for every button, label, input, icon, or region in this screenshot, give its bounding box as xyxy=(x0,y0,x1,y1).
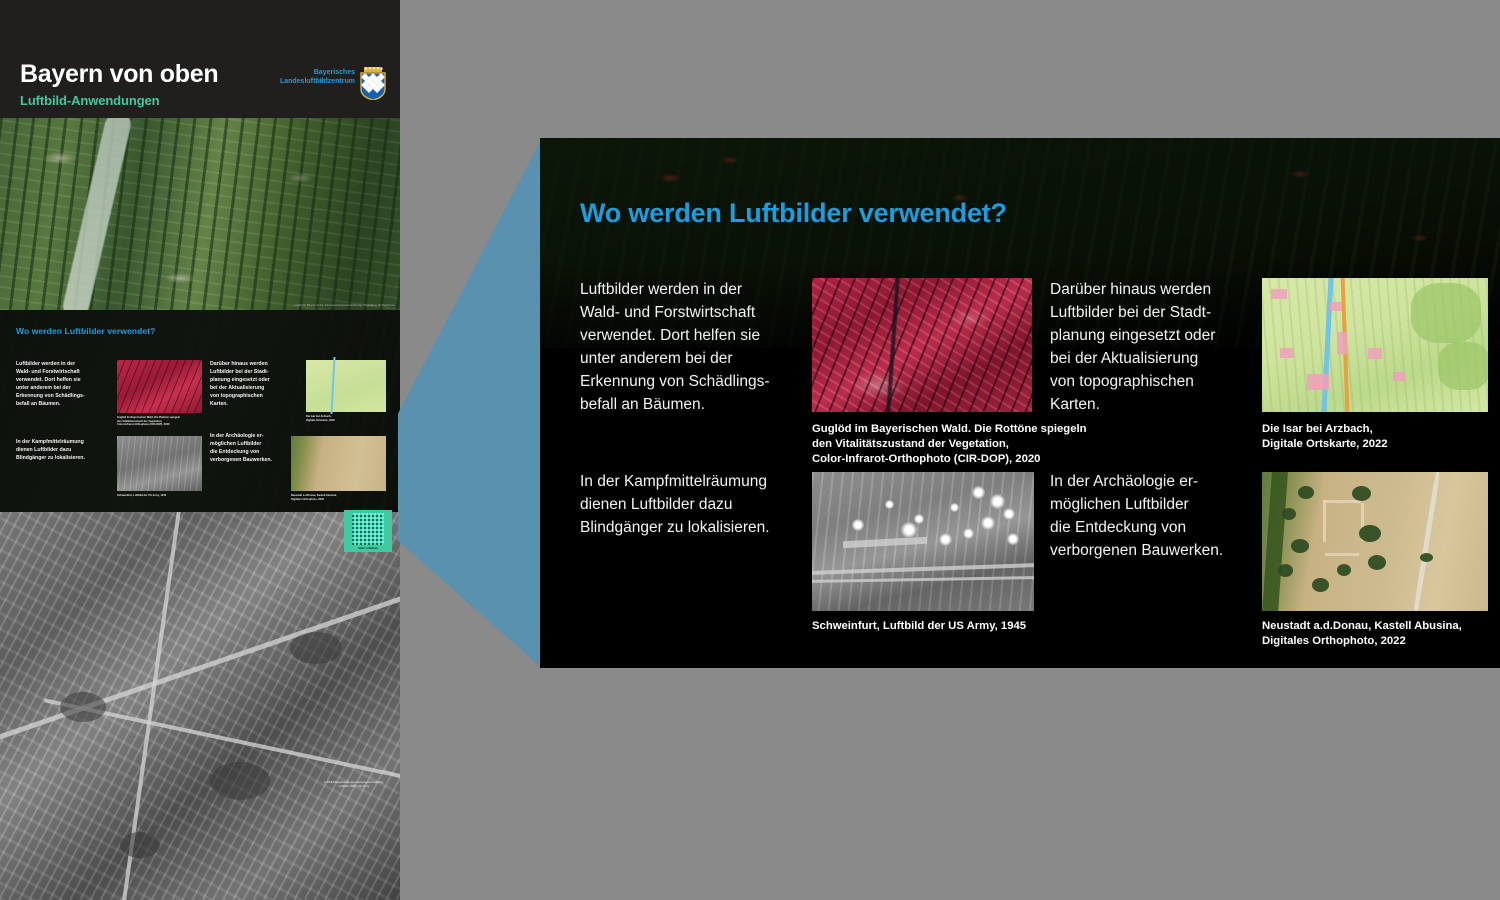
block-text-archaeology: In der Archäologie er- möglichen Luftbil… xyxy=(1050,470,1275,562)
poster-subtitle: Luftbild-Anwendungen xyxy=(20,93,160,108)
tree-canopy xyxy=(1352,486,1371,501)
vegetation-blob xyxy=(60,692,106,722)
tree-canopy xyxy=(1298,486,1314,499)
poster-content-panel: Wo werden Luftbilder verwendet? Luftbild… xyxy=(0,310,400,512)
qr-code-icon[interactable] xyxy=(352,513,384,545)
bomb-crater xyxy=(914,514,924,524)
settlement-area xyxy=(1307,374,1329,390)
logo-text: Bayerisches Landesluftbildzentrum xyxy=(277,68,355,86)
block-text-urban: Darüber hinaus werden Luftbilder bei der… xyxy=(1050,278,1265,416)
panel-heading: Wo werden Luftbilder verwendet? xyxy=(580,198,1007,229)
building-roof xyxy=(843,537,928,548)
roman-fort-wall xyxy=(1325,553,1359,556)
poster-bottom-aerial-photo xyxy=(0,512,400,900)
poster-thumb-map xyxy=(306,360,386,412)
road-shape xyxy=(1412,472,1442,611)
bomb-crater xyxy=(901,522,917,538)
settlement-area xyxy=(1280,348,1294,358)
settlement-area xyxy=(1330,302,1342,311)
hedgerow xyxy=(1262,472,1288,611)
bomb-crater xyxy=(963,528,974,539)
caption-orthophoto-kastell-abusina: Neustadt a.d.Donau, Kastell Abusina, Dig… xyxy=(1262,619,1500,649)
poster-caption-cir: Guglöd im Bayerischen Wald. Die Rottöne … xyxy=(117,416,180,427)
river-shape xyxy=(60,118,133,310)
poster-caption-bw: Schweinfurt, Luftbild der US Army, 1945 xyxy=(117,494,166,498)
caption-topographic-map-isar-arzbach: Die Isar bei Arzbach, Digitale Ortskarte… xyxy=(1262,422,1497,452)
logo-text-line2: Landesluftbildzentrum xyxy=(277,77,355,86)
organization-logo: Bayerisches Landesluftbildzentrum xyxy=(277,67,387,101)
vegetation-blob xyxy=(120,832,160,858)
block-text-ordnance: In der Kampfmittelräumung dienen Luftbil… xyxy=(580,470,825,539)
bavarian-coat-of-arms-icon xyxy=(359,67,387,100)
road-line xyxy=(0,587,400,741)
settlement-area xyxy=(1337,332,1347,354)
poster-top-image-credit: Luftbild Bayerische Vermessungsverwaltun… xyxy=(295,303,395,307)
logo-text-line1: Bayerisches xyxy=(277,68,355,77)
tree-canopy xyxy=(1368,555,1386,570)
image-historic-aerial-schweinfurt-1945 xyxy=(812,472,1034,611)
enlarged-detail-panel: Wo werden Luftbilder verwendet? Luftbild… xyxy=(540,138,1500,668)
bomb-crater xyxy=(990,494,1005,509)
poster-bottom-image-credit: Luftbild Bayerische Vermessungsverwaltun… xyxy=(318,780,390,788)
bomb-crater xyxy=(939,533,952,546)
caption-historic-aerial-schweinfurt-1945: Schweinfurt, Luftbild der US Army, 1945 xyxy=(812,619,1142,634)
bomb-crater xyxy=(885,500,894,509)
tree-canopy xyxy=(1282,508,1296,520)
image-orthophoto-kastell-abusina xyxy=(1262,472,1488,611)
roman-fort-wall xyxy=(1323,500,1326,542)
poster-top-aerial-photo: Luftbild Bayerische Vermessungsverwaltun… xyxy=(0,118,400,310)
qr-code-label: mehr erfahren xyxy=(347,546,389,550)
caption-cir-orthophoto-guglod: Guglöd im Bayerischen Wald. Die Rottöne … xyxy=(812,422,1142,467)
settlement-area xyxy=(1271,289,1287,299)
vegetation-blob xyxy=(210,762,270,800)
forest-area xyxy=(1438,342,1488,390)
tree-canopy xyxy=(1291,539,1309,553)
tree-canopy xyxy=(1278,564,1293,577)
exhibition-poster: Bayern von oben Luftbild-Anwendungen Bay… xyxy=(0,0,400,900)
poster-block-text-archaeology: In der Archäologie er- möglichen Luftbil… xyxy=(210,432,303,464)
poster-title: Bayern von oben xyxy=(20,60,218,89)
poster-block-text-forest: Luftbilder werden in der Wald- und Forst… xyxy=(16,360,109,409)
river-shape xyxy=(886,278,900,412)
river-shape xyxy=(1321,278,1334,412)
forest-area xyxy=(1411,283,1481,343)
screenshot-canvas: Bayern von oben Luftbild-Anwendungen Bay… xyxy=(0,0,1500,900)
rail-line xyxy=(812,576,1034,583)
poster-block-text-urban: Darüber hinaus werden Luftbilder bei der… xyxy=(210,360,303,409)
bomb-crater xyxy=(972,486,985,499)
poster-thumb-bw xyxy=(117,436,202,491)
bomb-crater xyxy=(1003,508,1015,520)
bomb-crater xyxy=(981,516,995,530)
block-text-forest: Luftbilder werden in der Wald- und Forst… xyxy=(580,278,815,416)
image-topographic-map-isar-arzbach xyxy=(1262,278,1488,412)
poster-section-heading: Wo werden Luftbilder verwendet? xyxy=(16,326,155,336)
poster-thumb-arch xyxy=(291,436,386,491)
settlement-area xyxy=(1393,372,1405,381)
vegetation-blob xyxy=(290,632,342,664)
tree-canopy xyxy=(1420,553,1433,562)
poster-caption-map: Die Isar bei Arzbach, Digitale Ortskarte… xyxy=(306,415,335,422)
poster-header: Bayern von oben Luftbild-Anwendungen Bay… xyxy=(0,0,400,118)
settlement-area xyxy=(1368,348,1382,359)
poster-block-text-ordnance: In der Kampfmittelräumung dienen Luftbil… xyxy=(16,438,109,462)
bomb-crater xyxy=(1007,533,1019,545)
tree-canopy xyxy=(1312,578,1329,592)
bomb-crater xyxy=(950,503,959,512)
rail-line xyxy=(812,563,1034,575)
tree-canopy xyxy=(1337,564,1351,576)
qr-code-panel[interactable]: mehr erfahren xyxy=(344,510,392,552)
tree-canopy xyxy=(1359,525,1381,542)
poster-caption-arch: Neustadt a.d.Donau, Kastell Abusina, Dig… xyxy=(291,494,337,501)
image-cir-orthophoto-guglod xyxy=(812,278,1032,412)
poster-thumb-cir xyxy=(117,360,202,413)
zoom-connector-shape xyxy=(398,138,542,668)
bomb-crater xyxy=(852,519,864,531)
roman-fort-wall xyxy=(1323,500,1361,503)
